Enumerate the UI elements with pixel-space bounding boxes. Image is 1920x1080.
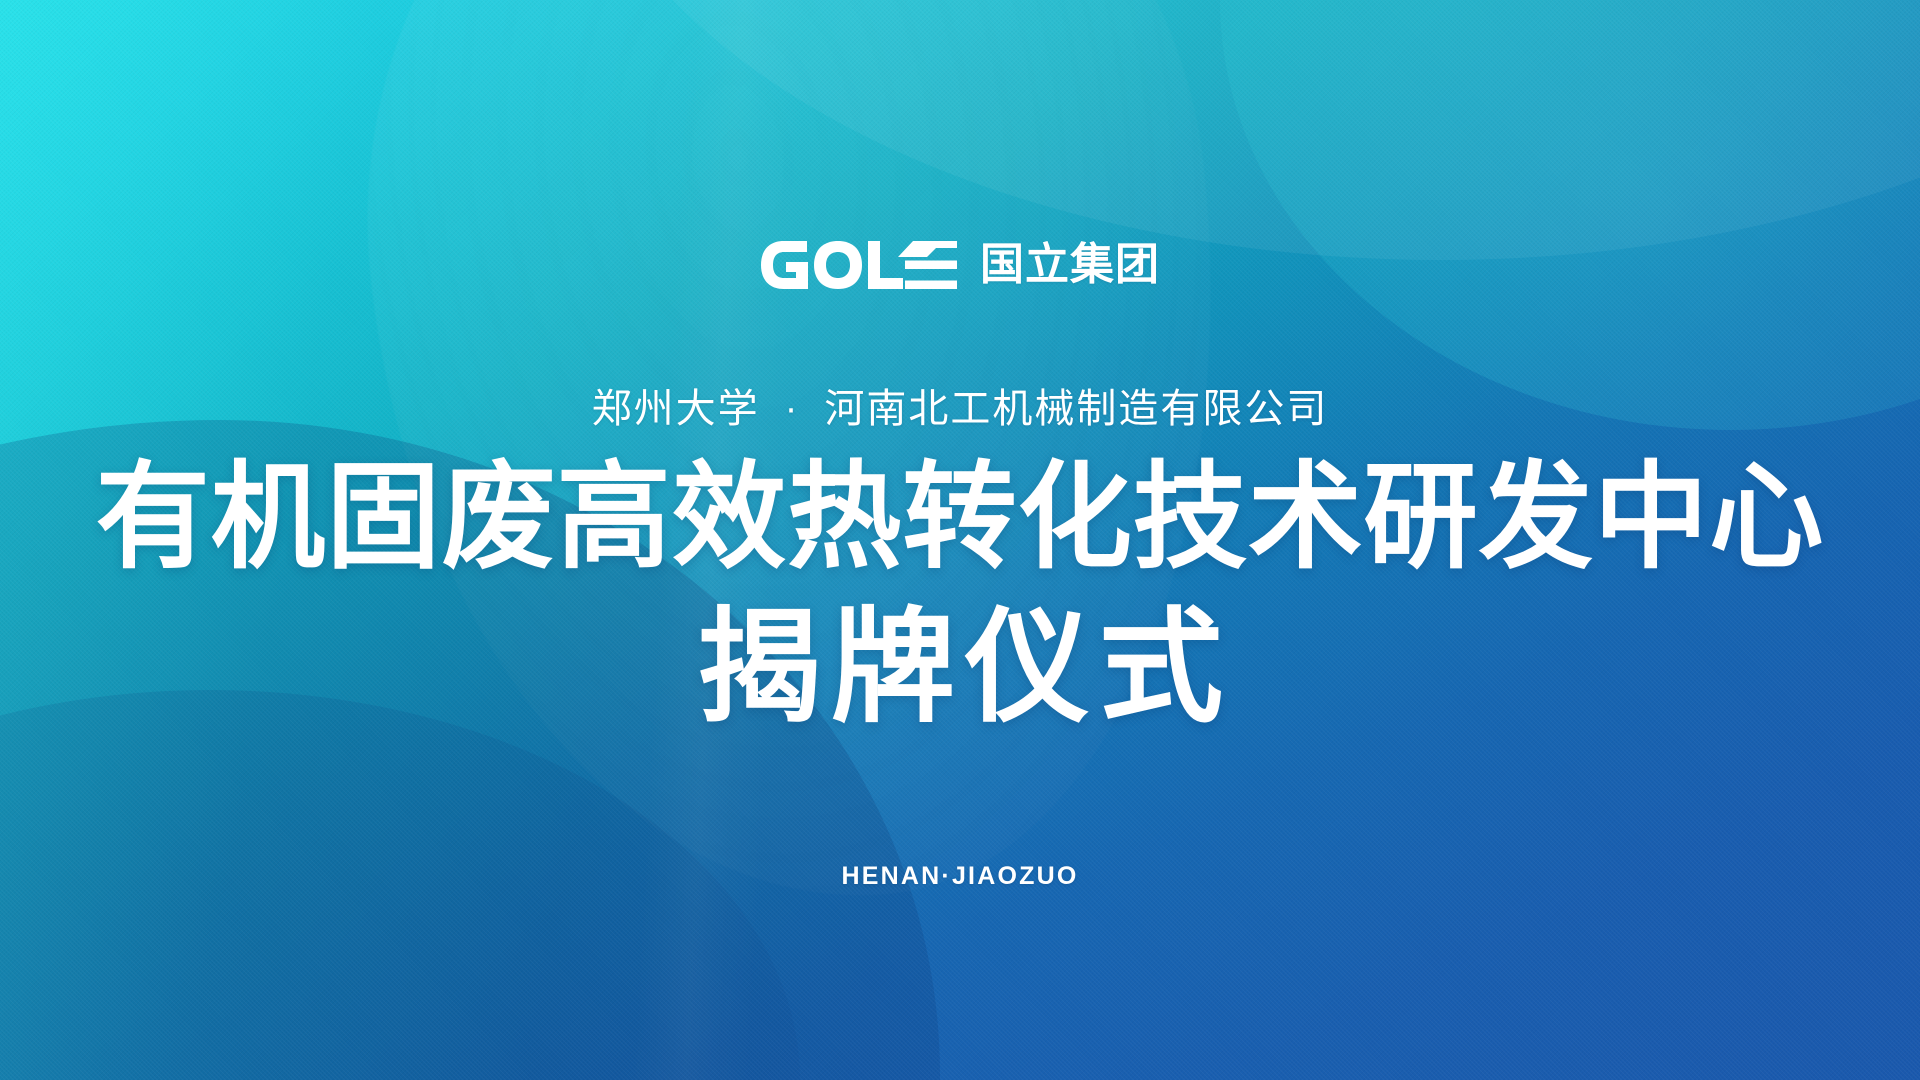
event-title-line-1: 有机固废高效热转化技术研发中心 <box>14 455 1905 580</box>
slide-content: 国立集团 郑州大学·河南北工机械制造有限公司 有机固废高效热转化技术研发中心 揭… <box>0 0 1920 1080</box>
brand-logo-lockup: 国立集团 <box>0 236 1920 294</box>
slide-canvas: 国立集团 郑州大学·河南北工机械制造有限公司 有机固废高效热转化技术研发中心 揭… <box>0 0 1920 1080</box>
event-title-line-2: 揭牌仪式 <box>0 602 1920 736</box>
organization-right: 河南北工机械制造有限公司 <box>824 386 1328 432</box>
event-location-footer: HENAN·JIAOZUO <box>0 862 1920 891</box>
gole-wordmark-icon <box>760 240 958 290</box>
subtitle-separator: · <box>760 391 825 432</box>
event-title-block: 有机固废高效热转化技术研发中心 揭牌仪式 <box>0 455 1920 736</box>
brand-logo-chinese-name: 国立集团 <box>980 243 1160 287</box>
organizations-subtitle: 郑州大学·河南北工机械制造有限公司 <box>0 385 1920 433</box>
organization-left: 郑州大学 <box>592 386 760 432</box>
